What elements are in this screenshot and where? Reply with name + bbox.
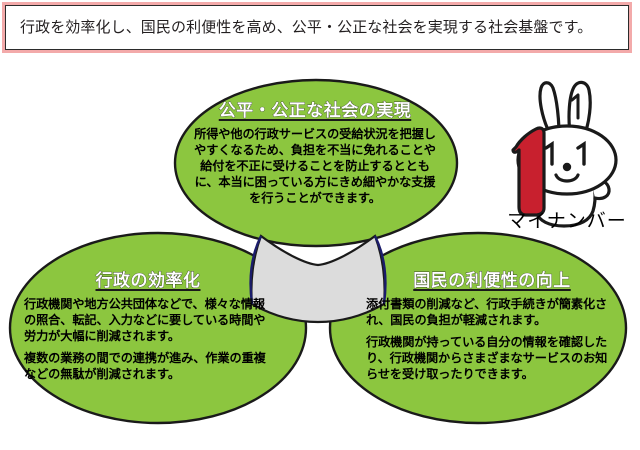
header-tagline: 行政を効率化し、国民の利便性を高め、公平・公正な社会を実現する社会基盤です。 (6, 19, 592, 37)
header-banner-inner: 行政を効率化し、国民の利便性を高め、公平・公正な社会を実現する社会基盤です。 (5, 5, 629, 50)
center-intersection-wedge (251, 236, 384, 322)
mascot-red-one (513, 128, 544, 215)
mascot-label: マイナンバー (494, 206, 640, 233)
header-banner: 行政を効率化し、国民の利便性を高め、公平・公正な社会を実現する社会基盤です。 (2, 2, 632, 53)
ellipse-fairness[interactable] (175, 80, 457, 246)
rabbit-nose (563, 163, 571, 171)
venn-diagram: 公平・公正な社会の実現 所得や他の行政サービスの受給状況を把握しやすくなるため、… (0, 58, 640, 450)
